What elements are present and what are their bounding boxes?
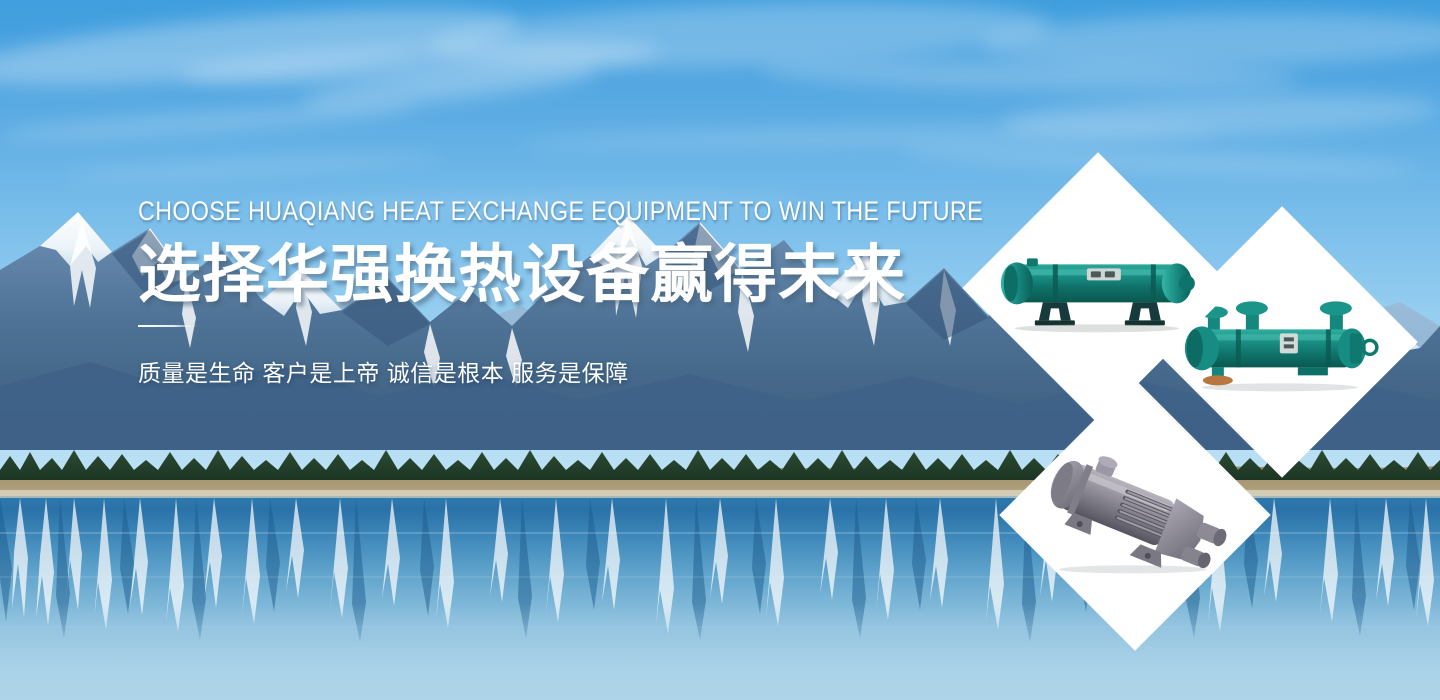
cutaway-oil-cooler-icon <box>1033 451 1238 579</box>
cloud-wisp <box>999 88 1440 143</box>
product-tile-shell-and-tube[interactable] <box>962 152 1234 424</box>
shell-and-tube-heat-exchanger-icon <box>991 242 1206 334</box>
slogan-text: 质量是生命 客户是上帝 诚信是根本 服务是保障 <box>138 354 898 388</box>
title-divider <box>138 325 198 327</box>
product-tile-oil-cooler[interactable] <box>999 379 1271 651</box>
page-title: 选择华强换热设备赢得未来 <box>138 241 898 309</box>
eyebrow-tagline: CHOOSE HUAQIANG HEAT EXCHANGE EQUIPMENT … <box>138 196 792 227</box>
hero-copy: CHOOSE HUAQIANG HEAT EXCHANGE EQUIPMENT … <box>138 196 898 388</box>
hero-banner: CHOOSE HUAQIANG HEAT EXCHANGE EQUIPMENT … <box>0 0 1440 700</box>
